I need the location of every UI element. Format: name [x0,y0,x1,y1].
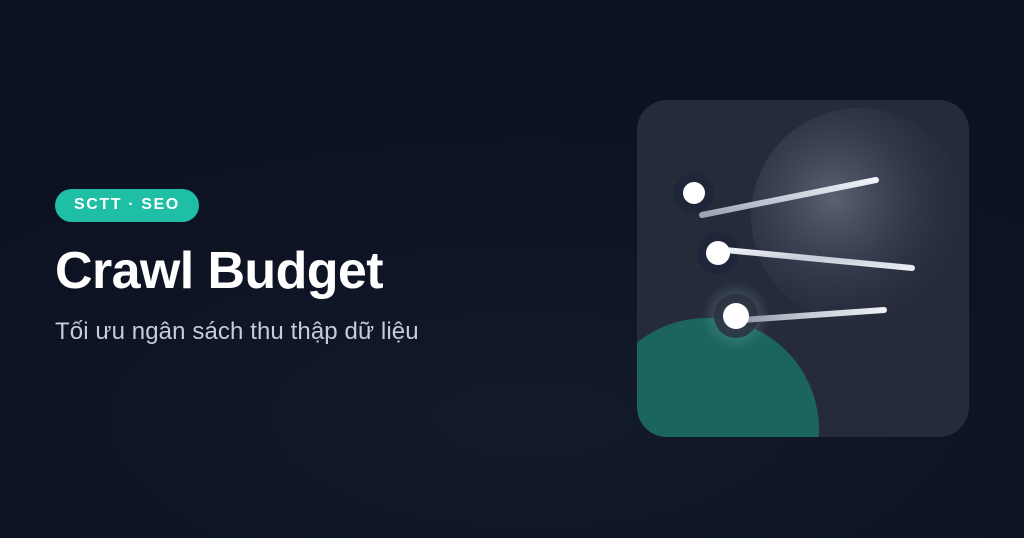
hero-text-column: SCTT · SEO Crawl Budget Tối ưu ngân sách… [55,189,575,347]
page-subtitle: Tối ưu ngân sách thu thập dữ liệu [55,316,575,347]
illustration-card [637,100,969,437]
crawl-node-3 [723,303,749,329]
crawl-node-2 [706,241,730,265]
category-badge: SCTT · SEO [55,189,199,222]
gradient-sphere [751,108,967,324]
crawl-node-1 [683,182,705,204]
page-title: Crawl Budget [55,244,575,299]
seo-hero-banner: SCTT · SEO Crawl Budget Tối ưu ngân sách… [0,0,1024,538]
crawl-illustration [637,100,969,437]
